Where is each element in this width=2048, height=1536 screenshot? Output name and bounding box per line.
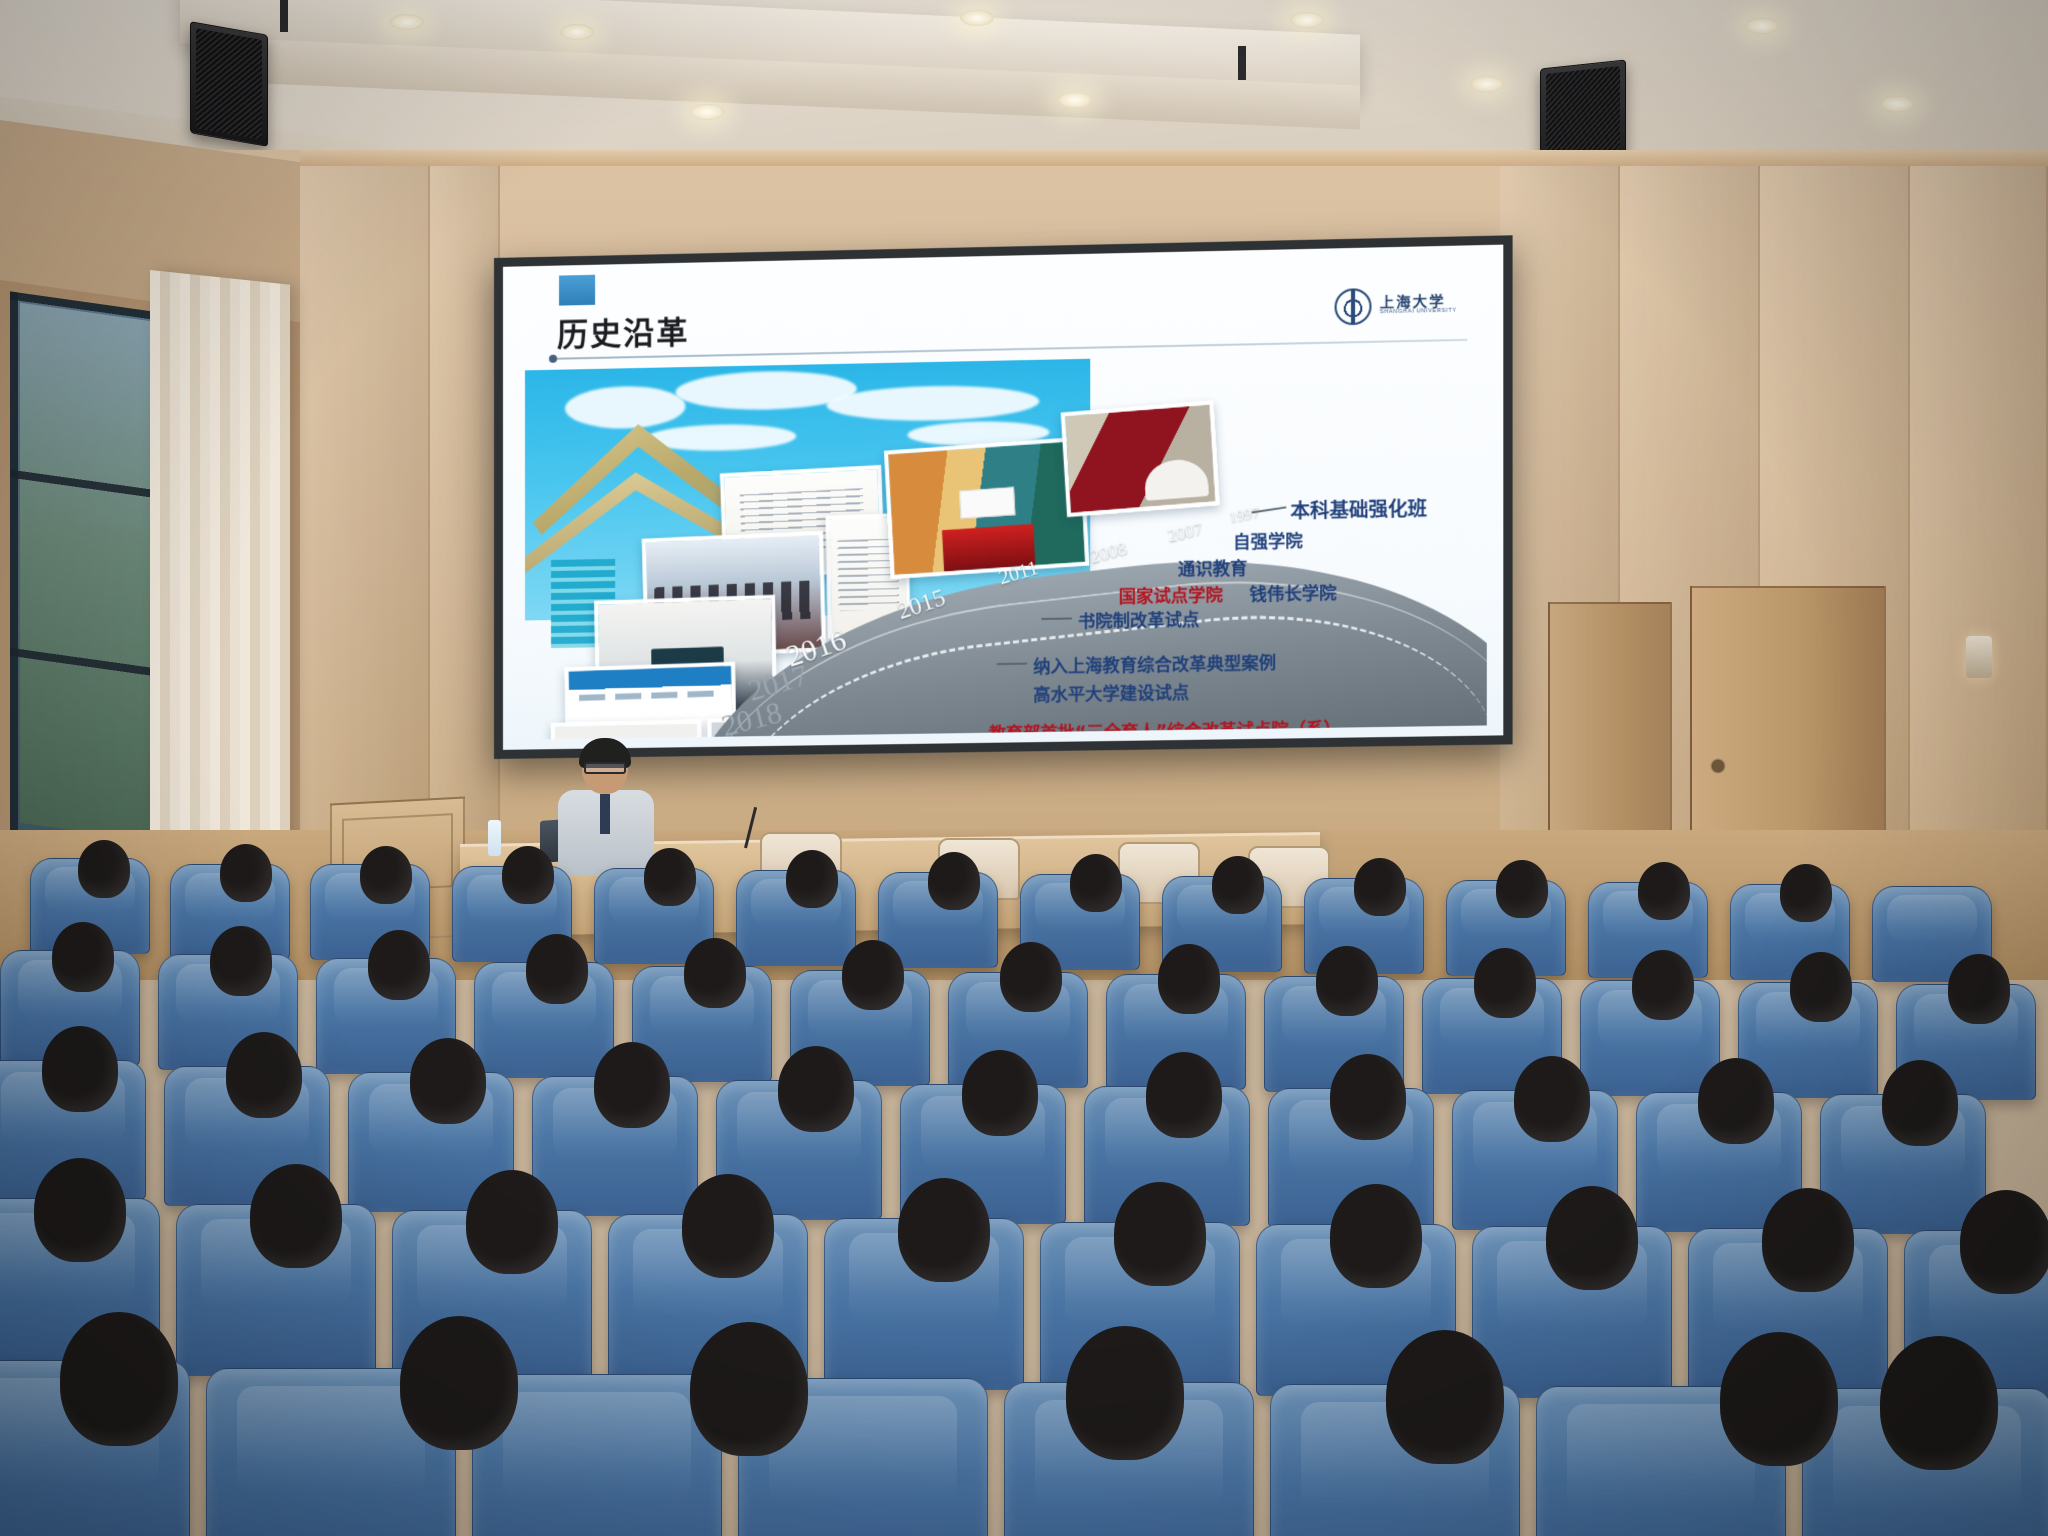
collage-photo-speaker bbox=[1061, 400, 1220, 517]
head bbox=[1330, 1184, 1422, 1288]
head bbox=[1790, 952, 1852, 1022]
head bbox=[1780, 864, 1832, 922]
lecture-hall-screenshot: 历史沿革 上海大学 SHANGHAI UNIVERSITY bbox=[0, 0, 2048, 1536]
head bbox=[60, 1312, 178, 1446]
collage-photo-lecture bbox=[551, 719, 702, 739]
timeline-entry-2017: 高水平大学建设试点 bbox=[1033, 678, 1189, 706]
head bbox=[928, 852, 980, 910]
head bbox=[226, 1032, 302, 1118]
head bbox=[1762, 1188, 1854, 1292]
head bbox=[684, 938, 746, 1008]
slide-accent-tab bbox=[559, 275, 595, 306]
head bbox=[1146, 1052, 1222, 1138]
presenter bbox=[552, 742, 660, 872]
head bbox=[682, 1174, 774, 1278]
ceiling-light bbox=[1058, 92, 1092, 108]
wall-trim bbox=[300, 150, 2048, 166]
head bbox=[1496, 860, 1548, 918]
wall-panel bbox=[1910, 150, 2048, 910]
head bbox=[42, 1026, 118, 1112]
head bbox=[466, 1170, 558, 1274]
timeline-year-1997: 1997 bbox=[1228, 505, 1261, 528]
head bbox=[1386, 1330, 1504, 1464]
wall-sconce bbox=[1966, 636, 1992, 678]
screen-surface: 历史沿革 上海大学 SHANGHAI UNIVERSITY bbox=[503, 245, 1503, 750]
presentation-slide: 历史沿革 上海大学 SHANGHAI UNIVERSITY bbox=[503, 245, 1503, 750]
head bbox=[34, 1158, 126, 1262]
speaker-mount bbox=[1238, 46, 1246, 80]
ceiling-light bbox=[390, 14, 424, 30]
head bbox=[1720, 1332, 1838, 1466]
head bbox=[526, 934, 588, 1004]
speaker-mount bbox=[280, 0, 288, 32]
head bbox=[690, 1322, 808, 1456]
head bbox=[1066, 1326, 1184, 1460]
timeline-year-2007: 2007 bbox=[1166, 519, 1204, 546]
head bbox=[1114, 1182, 1206, 1286]
head bbox=[1158, 944, 1220, 1014]
head bbox=[1880, 1336, 1998, 1470]
ceiling-light bbox=[1290, 12, 1324, 28]
head bbox=[1882, 1060, 1958, 1146]
head bbox=[220, 844, 272, 902]
slide-title: 历史沿革 bbox=[557, 307, 689, 355]
curtain bbox=[150, 270, 290, 845]
head bbox=[52, 922, 114, 992]
timeline-entry-2015: 书院制改革试点 bbox=[1078, 605, 1199, 632]
head bbox=[1316, 946, 1378, 1016]
wall-panel bbox=[300, 150, 430, 910]
timeline-entry-2011-qian: 钱伟长学院 bbox=[1249, 579, 1336, 606]
ceiling-light bbox=[1880, 96, 1914, 112]
head bbox=[1474, 948, 1536, 1018]
head bbox=[1330, 1054, 1406, 1140]
door-handle[interactable] bbox=[1712, 760, 1724, 772]
head bbox=[644, 848, 696, 906]
head bbox=[1514, 1056, 1590, 1142]
timeline-entry-1997: 本科基础强化班 bbox=[1290, 494, 1427, 524]
ceiling-light bbox=[1470, 76, 1504, 92]
logo-mark-icon bbox=[1335, 288, 1372, 325]
ceiling-light bbox=[960, 10, 994, 26]
head bbox=[250, 1164, 342, 1268]
head bbox=[778, 1046, 854, 1132]
timeline-entry-2008: 通识教育 bbox=[1178, 554, 1248, 580]
logo-text: 上海大学 SHANGHAI UNIVERSITY bbox=[1380, 294, 1457, 316]
head bbox=[1212, 856, 1264, 914]
head bbox=[1698, 1058, 1774, 1144]
wall-panel bbox=[430, 150, 500, 910]
collage-photo-ceremony bbox=[884, 437, 1089, 580]
head bbox=[842, 940, 904, 1010]
head bbox=[898, 1178, 990, 1282]
ceiling-light bbox=[1745, 18, 1779, 34]
presenter-tie bbox=[600, 794, 610, 834]
head bbox=[1000, 942, 1062, 1012]
university-logo: 上海大学 SHANGHAI UNIVERSITY bbox=[1335, 282, 1477, 330]
head bbox=[210, 926, 272, 996]
head bbox=[1632, 950, 1694, 1020]
head bbox=[594, 1042, 670, 1128]
logo-name-en: SHANGHAI UNIVERSITY bbox=[1380, 309, 1457, 316]
audience-area bbox=[0, 880, 2048, 1536]
timeline-entry-2011-national: 国家试点学院 bbox=[1119, 581, 1223, 608]
slide-body: 1997 2007 2008 2011 2015 2016 2017 2018 … bbox=[525, 351, 1487, 740]
head bbox=[400, 1316, 518, 1450]
head bbox=[1070, 854, 1122, 912]
ceiling-light bbox=[690, 104, 724, 120]
timeline-entry-2016: 纳入上海教育综合改革典型案例 bbox=[1033, 649, 1276, 678]
ceiling-light bbox=[560, 24, 594, 40]
presenter-glasses bbox=[584, 762, 626, 774]
ceiling-speaker-left bbox=[190, 21, 268, 147]
head bbox=[1354, 858, 1406, 916]
head bbox=[1546, 1186, 1638, 1290]
projection-screen: 历史沿革 上海大学 SHANGHAI UNIVERSITY bbox=[494, 235, 1513, 759]
timeline-year-2008: 2008 bbox=[1088, 538, 1129, 568]
head bbox=[502, 846, 554, 904]
timeline-entry-2007: 自强学院 bbox=[1233, 527, 1303, 554]
head bbox=[1960, 1190, 2048, 1294]
head bbox=[962, 1050, 1038, 1136]
head bbox=[368, 930, 430, 1000]
head bbox=[410, 1038, 486, 1124]
timeline-entry-2018: 教育部首批“三全育人”综合改革试点院（系） bbox=[989, 714, 1342, 739]
head bbox=[78, 840, 130, 898]
head bbox=[786, 850, 838, 908]
head bbox=[360, 846, 412, 904]
head bbox=[1638, 862, 1690, 920]
head bbox=[1948, 954, 2010, 1024]
water-bottle bbox=[488, 820, 501, 856]
